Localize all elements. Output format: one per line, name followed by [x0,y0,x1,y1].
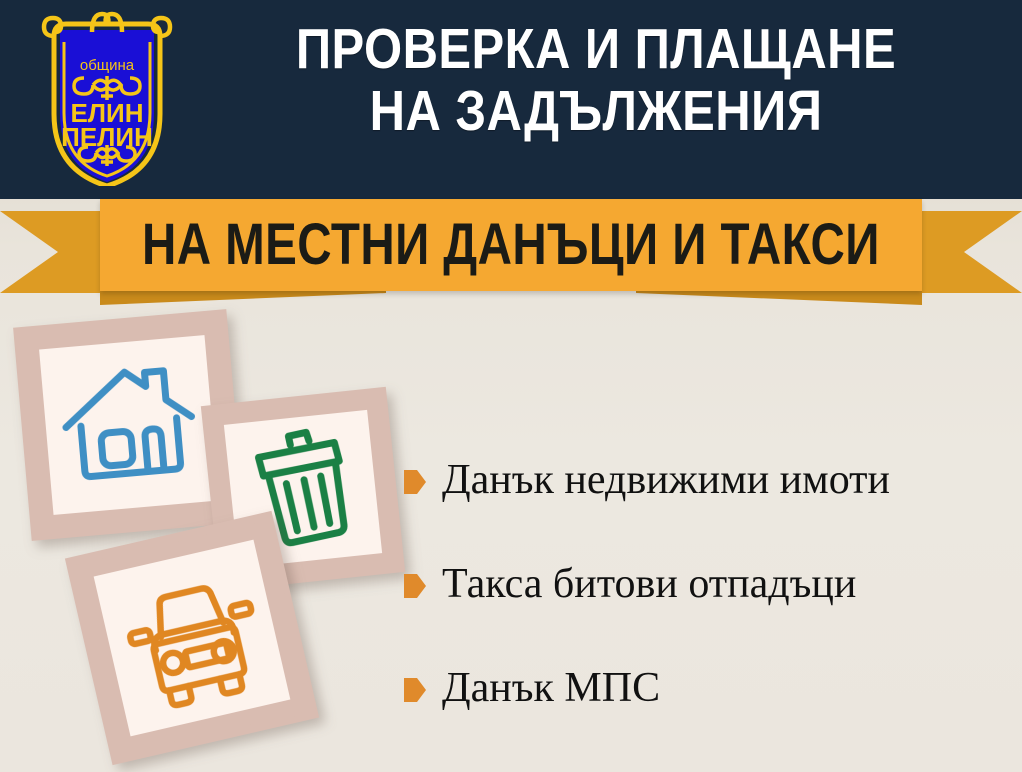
bullet-arrow-icon [404,573,426,599]
poster-canvas: община ЕЛИН ПЕЛИН ПРОВЕРКА И ПЛАЩАНЕ НА … [0,0,1022,772]
ribbon-text: НА МЕСТНИ ДАНЪЦИ И ТАКСИ [142,216,880,274]
list-item[interactable]: Данък МПС [404,636,1014,740]
tax-type-list: Данък недвижими имоти Такса битови отпад… [404,428,1014,740]
ribbon-banner: НА МЕСТНИ ДАНЪЦИ И ТАКСИ [0,199,1022,309]
crest-shield-icon: община ЕЛИН ПЕЛИН [40,6,174,186]
list-item[interactable]: Такса битови отпадъци [404,532,1014,636]
list-item[interactable]: Данък недвижими имоти [404,428,1014,532]
municipality-crest-logo: община ЕЛИН ПЕЛИН [40,6,174,186]
header-title-line-1: ПРОВЕРКА И ПЛАЩАНЕ [243,18,948,80]
list-item-label: Данък недвижими имоти [442,457,890,503]
list-item-label: Данък МПС [442,665,660,711]
header-title-line-2: НА ЗАДЪЛЖЕНИЯ [243,80,948,142]
header-title: ПРОВЕРКА И ПЛАЩАНЕ НА ЗАДЪЛЖЕНИЯ [186,18,1006,142]
crest-label-top: община [80,57,135,74]
header-banner: община ЕЛИН ПЕЛИН ПРОВЕРКА И ПЛАЩАНЕ НА … [0,0,1022,199]
list-item-label: Такса битови отпадъци [442,561,856,607]
ribbon-main-band: НА МЕСТНИ ДАНЪЦИ И ТАКСИ [100,199,922,291]
bullet-arrow-icon [404,677,426,703]
crest-label-name-line2: ПЕЛИН [61,122,153,152]
bullet-arrow-icon [404,469,426,495]
